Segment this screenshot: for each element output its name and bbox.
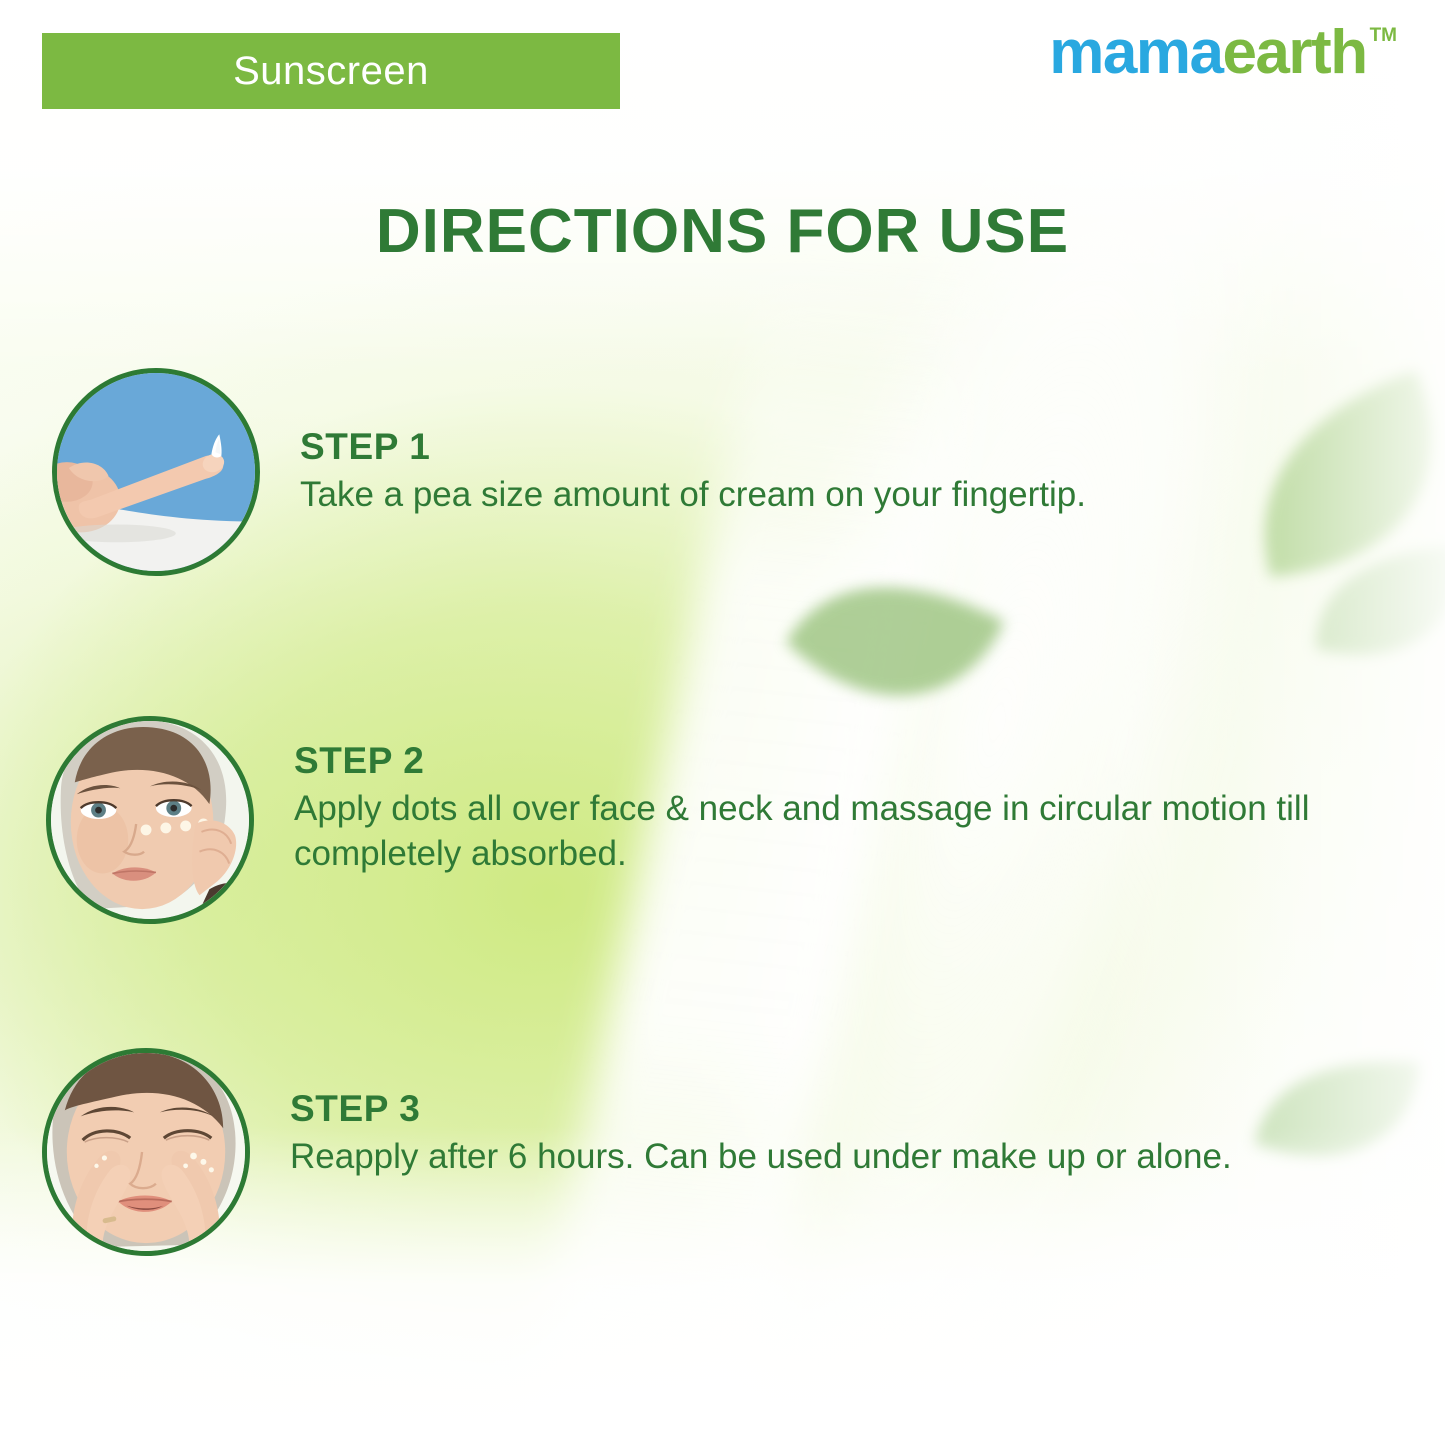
- step-1-label: STEP 1: [300, 428, 1086, 467]
- step-3-description: Reapply after 6 hours. Can be used under…: [290, 1135, 1232, 1180]
- step-3-thumbnail: [42, 1048, 250, 1256]
- step-item-2: STEP 2 Apply dots all over face & neck a…: [46, 716, 1444, 924]
- woman-massaging-face-illustration-icon: [47, 1053, 245, 1251]
- step-1-thumbnail: [52, 368, 260, 576]
- step-2-description: Apply dots all over face & neck and mass…: [294, 787, 1444, 877]
- step-2-copy: STEP 2 Apply dots all over face & neck a…: [294, 716, 1444, 876]
- step-1-copy: STEP 1 Take a pea size amount of cream o…: [300, 368, 1086, 518]
- step-2-label: STEP 2: [294, 742, 1444, 781]
- steps-list: STEP 1 Take a pea size amount of cream o…: [0, 0, 1445, 1444]
- step-item-1: STEP 1 Take a pea size amount of cream o…: [52, 368, 1086, 576]
- woman-applying-dots-illustration-icon: [51, 721, 249, 919]
- step-1-description: Take a pea size amount of cream on your …: [300, 473, 1086, 518]
- step-3-copy: STEP 3 Reapply after 6 hours. Can be use…: [290, 1048, 1232, 1180]
- finger-with-cream-illustration-icon: [57, 373, 255, 571]
- step-item-3: STEP 3 Reapply after 6 hours. Can be use…: [42, 1048, 1232, 1256]
- step-2-thumbnail: [46, 716, 254, 924]
- step-3-label: STEP 3: [290, 1090, 1232, 1129]
